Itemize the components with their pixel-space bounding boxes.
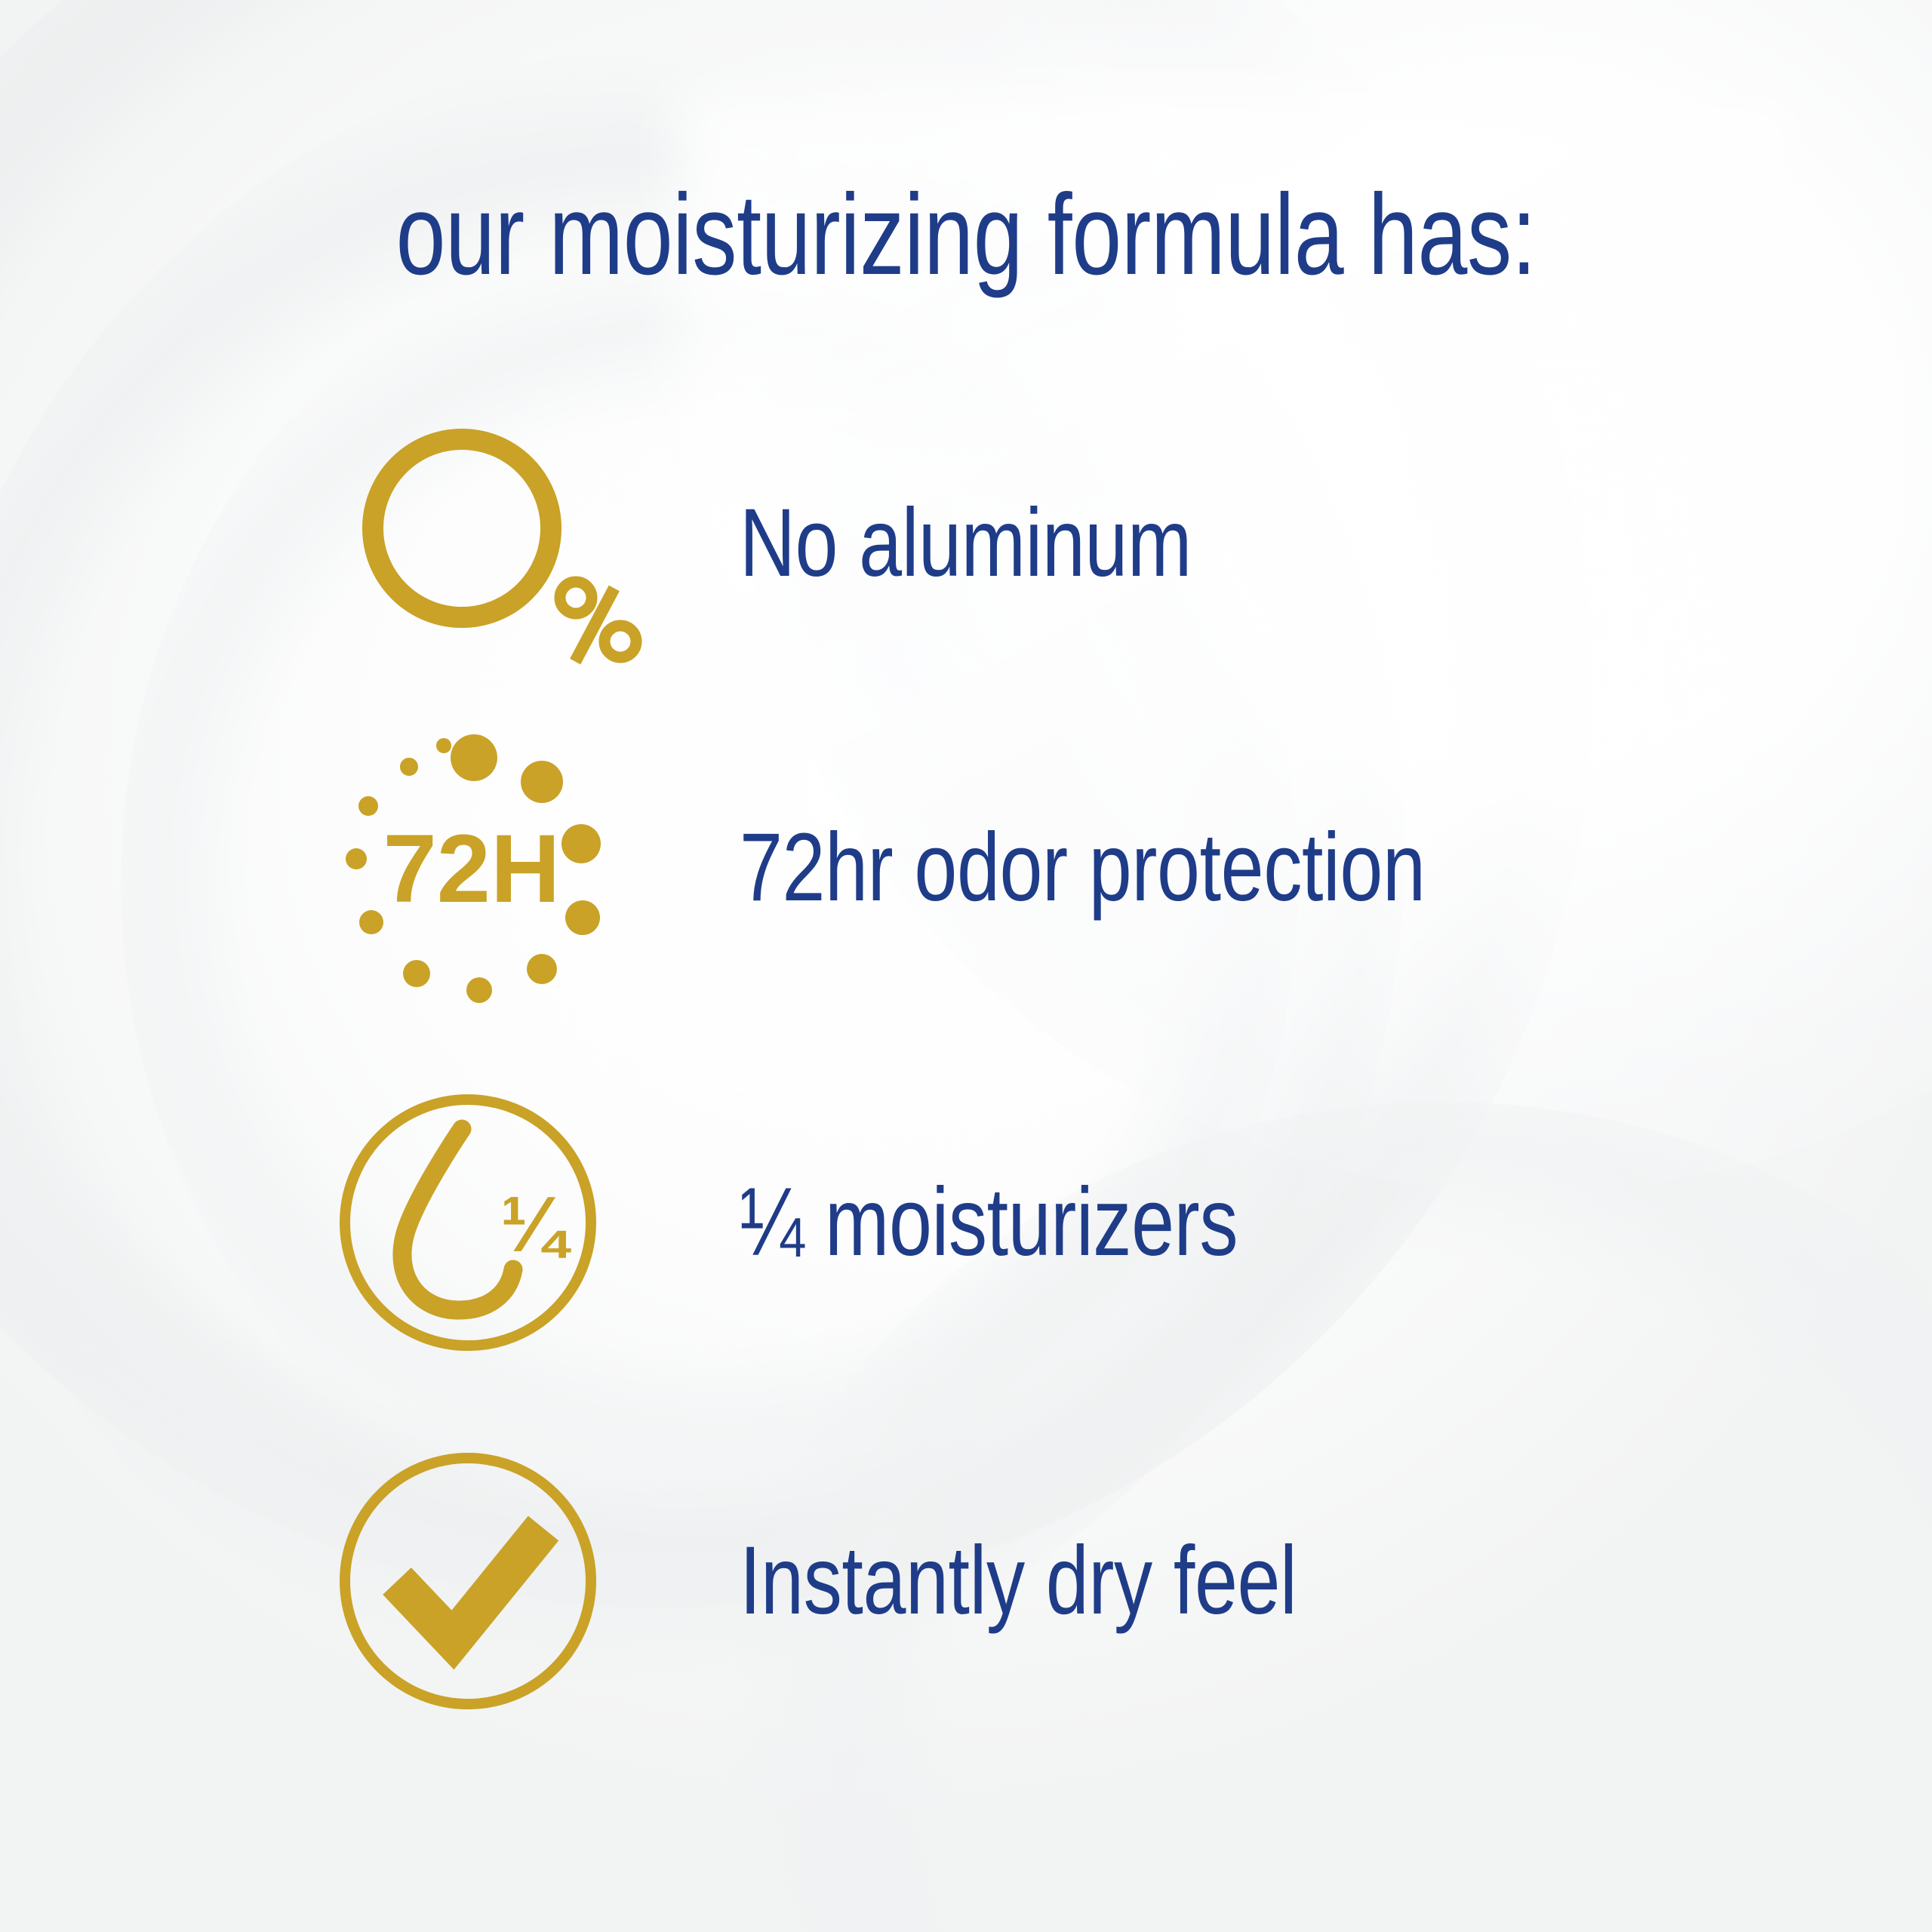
product-benefits-infographic: our moisturizing formula has: <box>0 0 1932 1932</box>
feature-list: No aluminum <box>0 0 1932 1932</box>
feature-label-odor-protection: 72hr odor protection <box>740 820 1426 916</box>
zero-percent-icon <box>325 400 649 687</box>
feature-label-no-aluminum: No aluminum <box>740 495 1192 592</box>
feature-label-dry-feel: Instantly dry feel <box>740 1533 1297 1629</box>
checkmark-circle-icon <box>325 1438 649 1724</box>
quarter-moisturizer-droplet-icon: ¼ <box>325 1079 649 1366</box>
check-outer-circle <box>345 1458 591 1704</box>
timer-icon-text: 72H <box>383 815 561 923</box>
checkmark-glyph <box>397 1528 543 1640</box>
feature-row-no-aluminum: No aluminum <box>325 400 1305 687</box>
feature-label-moisturizers: ¼ moisturizers <box>740 1174 1238 1271</box>
droplet-shape <box>402 1129 513 1310</box>
feature-row-moisturizers: ¼ ¼ moisturizers <box>325 1079 1362 1366</box>
feature-row-odor-protection: 72H 72hr odor protection <box>325 724 1597 1011</box>
seventy-two-hour-timer-icon: 72H <box>325 724 649 1011</box>
feature-row-dry-feel: Instantly dry feel <box>325 1438 1436 1724</box>
droplet-fraction-text: ¼ <box>500 1181 571 1269</box>
